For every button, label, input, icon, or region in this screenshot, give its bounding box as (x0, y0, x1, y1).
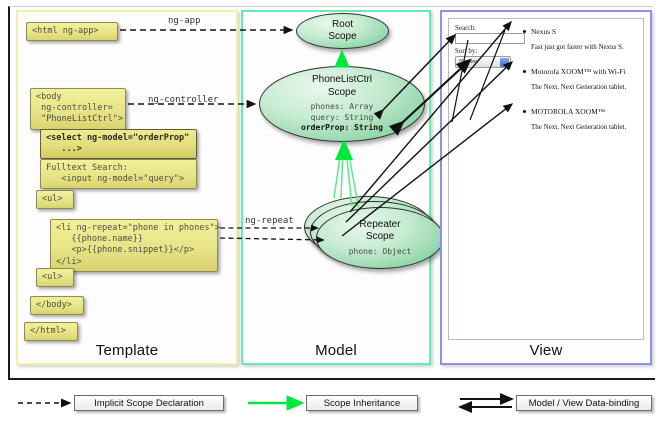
note-li-repeat: <li ng-repeat="phone in phones"> {{phone… (50, 219, 218, 272)
note-body-open: <body ng-controller= "PhoneListCtrl"> (30, 88, 126, 130)
note-select-tag: <select ng-model="orderProp" ...> (40, 129, 197, 159)
search-label: Search: (455, 24, 476, 32)
phone-snippet: The Next, Next Generation tablet. (531, 123, 626, 131)
model-column: Model (241, 10, 431, 365)
root-scope-ellipse: Root Scope (296, 13, 389, 49)
scope-prop-orderprop: orderProp: String (301, 123, 383, 133)
legend-item-implicit-scope-declaration: Implicit Scope Declaration (74, 395, 224, 411)
note-html-close: </html> (24, 322, 78, 341)
bullet-icon (523, 110, 526, 113)
ng-controller-label: ng-controller (148, 95, 218, 105)
repeater-scope-ellipse: Repeater Scope phone: Object (316, 207, 444, 269)
root-scope-title-line1: Root (332, 19, 353, 32)
template-column-label: Template (18, 342, 236, 359)
phone-list-item: Nexus S Fast just got faster with Nexus … (531, 27, 624, 51)
sort-by-select[interactable]: Newest (455, 56, 511, 68)
legend: Implicit Scope Declaration Scope Inherit… (0, 386, 661, 424)
phone-list-item: Motorola XOOM™ with Wi-Fi The Next, Next… (531, 67, 626, 91)
scope-prop-query: query: String (301, 113, 383, 123)
phone-name: Nexus S (531, 27, 624, 36)
bullet-icon (523, 30, 526, 33)
phone-name: MOTOROLA XOOM™ (531, 107, 626, 116)
phonelistctrl-scope-ellipse: PhoneListCtrl Scope phones: Array query:… (259, 66, 425, 142)
view-browser-mock: Search: Sort by: Newest Nexus S Fast jus… (448, 18, 644, 340)
note-ul-close: <ul> (36, 268, 74, 287)
search-input[interactable] (455, 33, 525, 44)
repeater-scope-props: phone: Object (349, 247, 412, 257)
phonelistctrl-scope-title-line2: Scope (328, 87, 356, 100)
note-body-close: </body> (30, 296, 84, 315)
sort-by-selected-value: Newest (459, 59, 477, 65)
phonelistctrl-scope-title-line1: PhoneListCtrl (312, 74, 372, 87)
chevron-updown-icon[interactable] (500, 58, 509, 67)
view-column: View Search: Sort by: Newest Nexus S Fas… (440, 10, 652, 365)
phone-snippet: The Next, Next Generation tablet. (531, 83, 626, 91)
model-column-label: Model (243, 342, 429, 359)
root-scope-title-line2: Scope (328, 31, 356, 44)
scope-prop-phones: phones: Array (301, 102, 383, 112)
ng-repeat-label: ng-repeat (245, 216, 294, 226)
legend-item-scope-inheritance: Scope Inheritance (306, 395, 418, 411)
legend-item-model-view-data-binding: Model / View Data-binding (516, 395, 652, 411)
repeater-scope-title-line1: Repeater (359, 219, 400, 232)
sort-by-label: Sort by: (455, 47, 477, 55)
frame-bottom-rule (8, 378, 655, 380)
repeater-scope-title-line2: Scope (366, 231, 394, 244)
bullet-icon (523, 70, 526, 73)
view-column-label: View (442, 342, 650, 359)
note-html-open: <html ng-app> (26, 22, 118, 41)
ng-app-label: ng-app (168, 16, 201, 26)
note-ul-open: <ul> (36, 190, 74, 209)
phone-snippet: Fast just got faster with Nexus S. (531, 43, 624, 51)
scope-prop-phone: phone: Object (349, 247, 412, 257)
note-search-input: Fulltext Search: <input ng-model="query"… (40, 159, 197, 189)
phone-name: Motorola XOOM™ with Wi-Fi (531, 67, 626, 76)
diagram-canvas: Template <html ng-app> <body ng-controll… (0, 0, 661, 425)
phonelistctrl-scope-props: phones: Array query: String orderProp: S… (301, 102, 383, 133)
phone-list-item: MOTOROLA XOOM™ The Next, Next Generation… (531, 107, 626, 131)
